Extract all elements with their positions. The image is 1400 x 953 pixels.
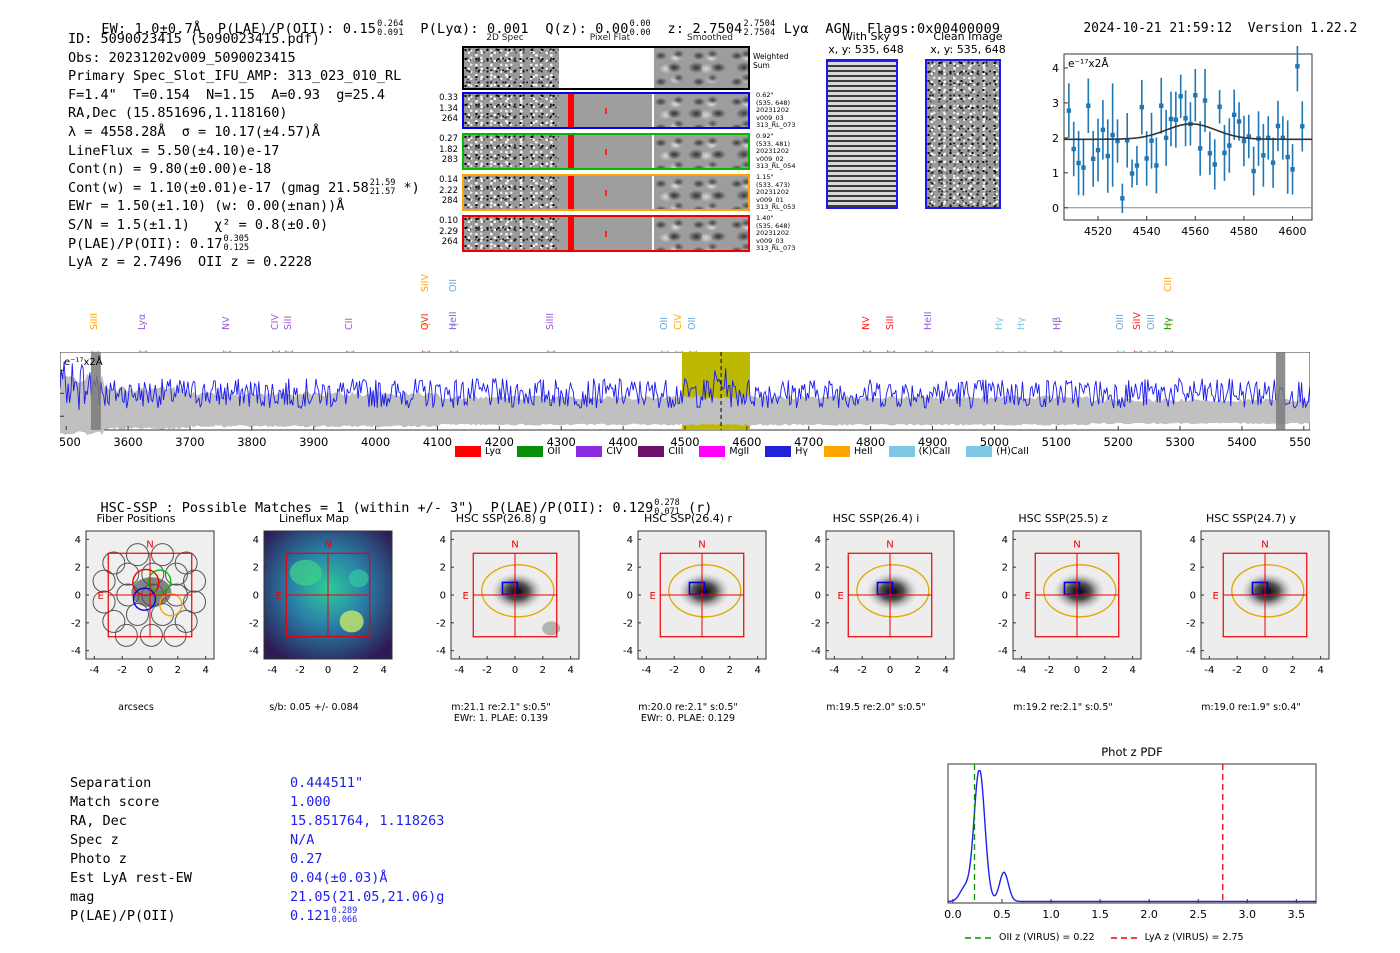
emission-line-label: CII [344,318,355,330]
emission-line-label: Lyα [137,314,148,330]
svg-text:0: 0 [699,665,705,676]
svg-text:3500: 3500 [60,435,81,449]
cutout-row-box [462,92,750,129]
svg-text:1.0: 1.0 [1042,908,1060,921]
match-table-value: 0.04(±0.03)Å [290,869,388,888]
legend-label: (H)CaII [996,446,1029,457]
header-timestamp-block: 2024-10-21 21:59:12 Version 1.22.2 [1052,6,1357,51]
svg-text:N: N [698,540,705,551]
hsc-panel-image: NE-4-4-2-2002244 [800,527,975,702]
svg-text:2: 2 [1102,665,1108,676]
hsc-panel-image: NE-4-4-2-2002244 [1175,527,1350,702]
emission-line-label: CIV [673,314,684,330]
match-table-label: mag [70,888,94,907]
hsc-panel-caption-2: EWr: 1. PLAE: 0.139 [425,713,577,724]
match-table-label: P(LAE)/P(OII) [70,907,176,926]
match-table-value: 0.1210.2890.066 [290,907,357,926]
svg-text:5400: 5400 [1227,435,1256,449]
hsc-panel: Fiber PositionsNE-4-4-2-2002244arcsecs [60,512,240,713]
hsc-panel-caption: m:20.0 re:2.1" s:0.5" [612,702,764,713]
hsc-panel-caption: s/b: 0.05 +/- 0.084 [238,702,390,713]
svg-text:N: N [324,540,331,551]
match-table-value: 21.05(21.05,21.06)g [290,888,444,907]
svg-text:3900: 3900 [299,435,328,449]
svg-text:5300: 5300 [1165,435,1194,449]
hsc-panel-title: Fiber Positions [60,512,212,525]
hsc-panel-caption: arcsecs [60,702,212,713]
match-table-label: Match score [70,793,159,812]
svg-text:E: E [275,591,281,602]
svg-text:4: 4 [75,535,81,546]
svg-text:3.0: 3.0 [1239,908,1257,921]
timestamp: 2024-10-21 21:59:12 [1083,21,1232,36]
info-seeing: F=1.4" T=0.154 N=1.15 A=0.93 g=25.4 [68,86,420,105]
svg-text:3: 3 [1052,97,1059,110]
svg-text:-2: -2 [1232,665,1242,676]
svg-text:-2: -2 [1186,618,1196,629]
hsc-panel-image: NE-4-4-2-2002244 [612,527,787,702]
cutout-row-metrics: 0.271.82283 [420,134,458,166]
report-page: EW: 1.0±0.7Å P(LAE)/P(OII): 0.150.2640.0… [0,0,1400,953]
legend-item: CIII [638,446,683,457]
legend-swatch [889,446,915,457]
svg-text:4: 4 [815,535,821,546]
svg-text:0: 0 [1262,665,1268,676]
svg-text:4: 4 [754,665,760,676]
svg-text:0: 0 [627,591,633,602]
svg-text:4: 4 [1190,535,1196,546]
pixelflat-center-marker [605,190,607,196]
cutout-row-metrics: 0.102.29264 [420,216,458,248]
info-primary-spec: Primary Spec_Slot_IFU_AMP: 313_023_010_R… [68,67,420,86]
hsc-panel: HSC SSP(26.8) gNE-4-4-2-2002244m:21.1 re… [425,512,605,724]
weighted-sum-label: Weighted Sum [753,52,789,70]
hsc-panel: HSC SSP(26.4) iNE-4-4-2-2002244m:19.5 re… [800,512,980,713]
svg-text:-4: -4 [811,646,821,657]
svg-text:3800: 3800 [237,435,266,449]
svg-text:N: N [146,540,153,551]
emission-line-bracket: { [450,322,460,328]
legend-swatch [966,446,992,457]
cutout-row-meta: 1.40"(535, 648)20231202v009_03313_RL_073 [756,215,795,253]
phot-z-legend: OII z (VIRUS) = 0.22LyA z (VIRUS) = 2.75 [965,932,1260,943]
cutout-row-meta: 0.92"(533, 481)20231202v009_02313_RL_054 [756,133,795,171]
svg-text:4540: 4540 [1133,225,1161,238]
svg-text:2: 2 [1052,132,1059,145]
pixelflat-red-bar [568,94,574,127]
legend-item: (K)CaII [889,446,951,457]
cutout-row-metrics: 0.331.34264 [420,93,458,125]
legend-label: (K)CaII [919,446,951,457]
svg-text:4000: 4000 [361,435,390,449]
hsc-panel: HSC SSP(26.4) rNE-4-4-2-2002244m:20.0 re… [612,512,792,724]
svg-text:0: 0 [325,665,331,676]
svg-text:4: 4 [567,665,573,676]
svg-text:0: 0 [1002,591,1008,602]
hsc-panel-title: HSC SSP(25.5) z [987,512,1139,525]
svg-text:-4: -4 [641,665,651,676]
svg-text:-2: -2 [117,665,127,676]
cutout-pixelflat [559,135,652,168]
pixelflat-center-marker [605,108,607,114]
svg-text:N: N [886,540,893,551]
match-table-value: N/A [290,831,314,850]
cutout-pixelflat [559,176,652,209]
legend-swatch [638,446,664,457]
svg-text:E: E [97,591,103,602]
svg-text:-2: -2 [482,665,492,676]
cutout-2dspec [464,94,559,127]
svg-text:E: E [649,591,655,602]
legend-item: MgII [699,446,749,457]
emission-line-label: Hβ [1052,317,1063,330]
svg-text:4: 4 [1002,535,1008,546]
emission-line-label: OII [687,317,698,330]
match-table-value: 0.27 [290,850,323,869]
svg-text:N: N [1261,540,1268,551]
hsc-panel-title: HSC SSP(24.7) y [1175,512,1327,525]
photz-legend-label: LyA z (VIRUS) = 2.75 [1145,932,1244,943]
svg-text:2.5: 2.5 [1189,908,1207,921]
svg-text:4: 4 [1052,62,1059,75]
svg-text:0: 0 [1074,665,1080,676]
full-spectrum-chart: 0243500360037003800390040004100420043004… [60,352,1310,452]
with-sky-subtitle: x, y: 535, 648 [826,43,906,56]
svg-text:2: 2 [627,563,633,574]
match-properties-table: Separation0.444511"Match score1.000RA, D… [70,774,490,944]
emission-line-label: NV [861,316,872,330]
svg-text:2: 2 [815,563,821,574]
emission-line-label: SiIV [420,274,431,292]
svg-text:0: 0 [887,665,893,676]
emission-line-label: OII [659,317,670,330]
match-table-value: 15.851764, 1.118263 [290,812,444,831]
svg-text:-4: -4 [267,665,277,676]
emission-line-label: SiII [283,316,294,330]
info-plae: P(LAE)/P(OII): 0.170.3050.125 [68,235,420,254]
svg-text:0: 0 [1190,591,1196,602]
legend-item: Lyα [455,446,501,457]
svg-text:-2: -2 [1044,665,1054,676]
emission-line-label: OII [448,279,459,292]
with-sky-image [826,59,898,209]
legend-swatch [765,446,791,457]
emission-line-label: OIII [1146,314,1157,330]
weighted-sum-smoothed [654,48,748,88]
hsc-panel: Lineflux MapNE-4-4-2-2002244s/b: 0.05 +/… [238,512,418,713]
legend-label: CIII [668,446,683,457]
svg-text:1: 1 [1052,167,1059,180]
legend-label: CIV [606,446,622,457]
svg-text:0.0: 0.0 [944,908,962,921]
pixelflat-red-bar [568,176,574,209]
cutout-2dspec [464,135,559,168]
info-ewr: EWr = 1.50(±1.10) (w: 0.00(±nan))Å [68,197,420,216]
svg-text:2: 2 [540,665,546,676]
hsc-panel-image: NE-4-4-2-2002244 [238,527,413,702]
cutout-row-meta: 0.62"(535, 648)20231202v009_03313_RL_073 [756,92,795,130]
svg-text:E: E [462,591,468,602]
cutout-row: 0.271.822830.92"(533, 481)20231202v009_0… [420,133,810,171]
photz-legend-label: OII z (VIRUS) = 0.22 [999,932,1095,943]
version: Version 1.22.2 [1248,21,1358,36]
svg-text:0: 0 [147,665,153,676]
svg-text:2: 2 [1290,665,1296,676]
photz-legend-item: LyA z (VIRUS) = 2.75 [1111,932,1244,943]
header-line-id: Lyα [784,21,809,37]
svg-text:N: N [511,540,518,551]
info-cont-w: Cont(w) = 1.10(±0.01)e-17 (gmag 21.5821.… [68,179,420,198]
emission-line-label: SiIII [89,313,100,330]
svg-text:2: 2 [253,563,259,574]
cutout-2dspec [464,176,559,209]
info-lineflux: LineFlux = 5.50(±4.10)e-17 [68,142,420,161]
info-lambda: λ = 4558.28Å σ = 10.17(±4.57)Å [68,123,420,142]
spectrum-legend: LyαOIICIVCIIIMgIIHγHeII(K)CaII(H)CaII [455,443,1045,459]
hsc-panel-caption: m:21.1 re:2.1" s:0.5" [425,702,577,713]
emission-line-label: SiII [885,316,896,330]
svg-text:0: 0 [815,591,821,602]
svg-text:-2: -2 [857,665,867,676]
svg-text:4: 4 [380,665,386,676]
legend-item: CIV [576,446,622,457]
svg-text:4: 4 [202,665,208,676]
legend-item: Hγ [765,446,808,457]
svg-text:5500: 5500 [1289,435,1310,449]
emission-line-label: Hγ [1016,317,1027,330]
svg-text:0.5: 0.5 [993,908,1011,921]
hsc-panel-caption: m:19.5 re:2.0" s:0.5" [800,702,952,713]
cutout-smoothed [654,176,748,209]
svg-text:-4: -4 [998,646,1008,657]
phot-z-pdf-chart: Phot z PDF0.00.51.01.52.02.53.03.5 [928,738,1328,933]
svg-text:-4: -4 [1016,665,1026,676]
cutout-column-titles: 2D Spec Pixel Flat Smoothed [460,33,760,47]
hsc-panel-title: Lineflux Map [238,512,390,525]
match-table-value: 1.000 [290,793,331,812]
svg-text:4: 4 [1129,665,1135,676]
pixelflat-center-marker [605,231,607,237]
svg-text:2: 2 [75,563,81,574]
clean-image-panel: Clean Image x, y: 535, 648 [925,30,1011,209]
svg-text:4: 4 [253,535,259,546]
svg-text:4520: 4520 [1084,225,1112,238]
svg-text:0: 0 [253,591,259,602]
with-sky-title: With Sky [826,30,906,43]
match-table-label: RA, Dec [70,812,127,831]
hsc-panel-image: NE-4-4-2-2002244 [60,527,235,702]
svg-text:4560: 4560 [1181,225,1209,238]
svg-text:2: 2 [353,665,359,676]
cutout-row: 0.102.292641.40"(535, 648)20231202v009_0… [420,215,810,253]
svg-text:-4: -4 [829,665,839,676]
pixelflat-red-bar [568,217,574,250]
svg-text:4: 4 [440,535,446,546]
svg-text:0: 0 [440,591,446,602]
emission-line-label: HeII [923,311,934,330]
info-radec: RA,Dec (15.851696,1.118160) [68,104,420,123]
svg-text:2: 2 [440,563,446,574]
svg-text:-4: -4 [436,646,446,657]
legend-swatch [699,446,725,457]
svg-text:-2: -2 [811,618,821,629]
svg-text:2.0: 2.0 [1140,908,1158,921]
cutout-row: 0.142.222841.15"(533, 473)20231202v009_0… [420,174,810,212]
pixelflat-center-marker [605,149,607,155]
cutout-row-box [462,133,750,170]
match-table-label: Est LyA rest-EW [70,869,192,888]
weighted-sum-row [462,46,750,90]
emission-line-bracket: { [422,322,432,328]
weighted-sum-2dspec [464,48,559,88]
info-id: ID: 5090023415 (5090023415.pdf) [68,30,420,49]
svg-text:N: N [1073,540,1080,551]
svg-text:E: E [837,591,843,602]
svg-text:-4: -4 [89,665,99,676]
svg-text:0: 0 [512,665,518,676]
svg-text:-2: -2 [71,618,81,629]
cutout-pixelflat [559,217,652,250]
photz-legend-swatch [965,933,995,943]
emission-line-label: SiIII [545,313,556,330]
line-zoom-chart: 0123445204540456045804600e⁻¹⁷x2Å [1028,46,1318,246]
with-sky-panel: With Sky x, y: 535, 648 [826,30,906,209]
cutout-row-metrics: 0.142.22284 [420,175,458,207]
match-table-label: Photo z [70,850,127,869]
pixelflat-red-bar [568,135,574,168]
legend-swatch [517,446,543,457]
svg-text:Phot z PDF: Phot z PDF [1101,745,1163,759]
svg-text:4580: 4580 [1230,225,1258,238]
hsc-panel-title: HSC SSP(26.8) g [425,512,577,525]
svg-text:-4: -4 [71,646,81,657]
svg-text:2: 2 [915,665,921,676]
svg-text:-2: -2 [436,618,446,629]
legend-swatch [455,446,481,457]
legend-item: HeII [824,446,873,457]
cutout-row-meta: 1.15"(533, 473)20231202v009_01313_RL_053 [756,174,795,212]
legend-swatch [824,446,850,457]
info-cont-n: Cont(n) = 9.80(±0.00)e-18 [68,160,420,179]
info-snr: S/N = 1.5(±1.1) χ² = 0.8(±0.0) [68,216,420,235]
legend-item: OII [517,446,560,457]
svg-text:-2: -2 [669,665,679,676]
cutout-title-pixelflat: Pixel Flat [560,33,660,43]
hsc-panel: HSC SSP(25.5) zNE-4-4-2-2002244m:19.2 re… [987,512,1167,713]
cutout-smoothed [654,135,748,168]
legend-label: MgII [729,446,749,457]
hsc-panel-title: HSC SSP(26.4) i [800,512,952,525]
photz-legend-item: OII z (VIRUS) = 0.22 [965,932,1095,943]
svg-text:4100: 4100 [423,435,452,449]
clean-image-title: Clean Image [925,30,1011,43]
match-table-value: 0.444511" [290,774,363,793]
svg-text:E: E [1212,591,1218,602]
svg-text:-4: -4 [1204,665,1214,676]
svg-text:-2: -2 [623,618,633,629]
cutout-title-2dspec: 2D Spec [460,33,550,43]
svg-text:2: 2 [727,665,733,676]
hsc-panel-title: HSC SSP(26.4) r [612,512,764,525]
legend-swatch [576,446,602,457]
svg-text:-4: -4 [454,665,464,676]
hsc-panel-image: NE-4-4-2-2002244 [987,527,1162,702]
svg-text:3.5: 3.5 [1288,908,1306,921]
cutout-smoothed [654,217,748,250]
cutout-smoothed [654,94,748,127]
match-table-label: Separation [70,774,151,793]
hsc-panel-image: NE-4-4-2-2002244 [425,527,600,702]
svg-text:4: 4 [1317,665,1323,676]
svg-text:2: 2 [1190,563,1196,574]
info-redshifts: LyA z = 2.7496 OII z = 0.2228 [68,253,420,272]
svg-text:-2: -2 [998,618,1008,629]
legend-label: Lyα [485,446,501,457]
svg-text:4: 4 [627,535,633,546]
svg-text:1.5: 1.5 [1091,908,1109,921]
svg-text:4: 4 [942,665,948,676]
svg-text:3700: 3700 [175,435,204,449]
svg-text:-4: -4 [249,646,259,657]
svg-text:-4: -4 [623,646,633,657]
svg-text:e⁻¹⁷x2Å: e⁻¹⁷x2Å [1068,57,1109,70]
svg-text:e⁻¹⁷x2Å: e⁻¹⁷x2Å [64,355,103,368]
info-obs: Obs: 20231202v009_5090023415 [68,49,420,68]
emission-line-label: NV [221,316,232,330]
emission-line-bracket: { [1164,322,1174,328]
emission-line-label: Hγ [994,317,1005,330]
svg-text:0: 0 [75,591,81,602]
emission-line-label: CIV [270,314,281,330]
svg-text:E: E [1024,591,1030,602]
emission-line-label: SiIV [1132,312,1143,330]
cutout-row: 0.331.342640.62"(535, 648)20231202v009_0… [420,92,810,130]
cutout-pixelflat [559,94,652,127]
cutout-row-box [462,215,750,252]
clean-image-subtitle: x, y: 535, 648 [925,43,1011,56]
svg-text:3600: 3600 [113,435,142,449]
svg-text:-2: -2 [295,665,305,676]
svg-text:5100: 5100 [1042,435,1071,449]
svg-text:5200: 5200 [1104,435,1133,449]
hsc-cutout-grid: Fiber PositionsNE-4-4-2-2002244arcsecsLi… [0,512,1400,732]
emission-line-label: CIII [1163,277,1174,292]
svg-text:2: 2 [175,665,181,676]
svg-text:2: 2 [1002,563,1008,574]
hsc-panel: HSC SSP(24.7) yNE-4-4-2-2002244m:19.0 re… [1175,512,1355,713]
hsc-panel-caption: m:19.2 re:2.1" s:0.5" [987,702,1139,713]
legend-label: OII [547,446,560,457]
legend-item: (H)CaII [966,446,1029,457]
legend-label: Hγ [795,446,808,457]
emission-line-label: OIII [1115,314,1126,330]
cutout-title-smoothed: Smoothed [665,33,755,43]
emission-line-labels: SiIII{Lyα{NV{CIV{SiII{CII{OVI{SiIV{HeII{… [0,275,1400,360]
match-table-label: Spec z [70,831,119,850]
object-info-block: ID: 5090023415 (5090023415.pdf) Obs: 202… [68,30,420,272]
svg-text:0: 0 [1052,202,1059,215]
hsc-panel-caption-2: EWr: 0. PLAE: 0.129 [612,713,764,724]
svg-text:-2: -2 [249,618,259,629]
svg-text:4600: 4600 [1279,225,1307,238]
legend-label: HeII [854,446,873,457]
cutout-row-box [462,174,750,211]
weighted-sum-pixelflat [559,48,652,88]
photz-legend-swatch [1111,933,1141,943]
hsc-panel-caption: m:19.0 re:1.9" s:0.4" [1175,702,1327,713]
clean-image-image [925,59,1001,209]
cutout-2dspec [464,217,559,250]
